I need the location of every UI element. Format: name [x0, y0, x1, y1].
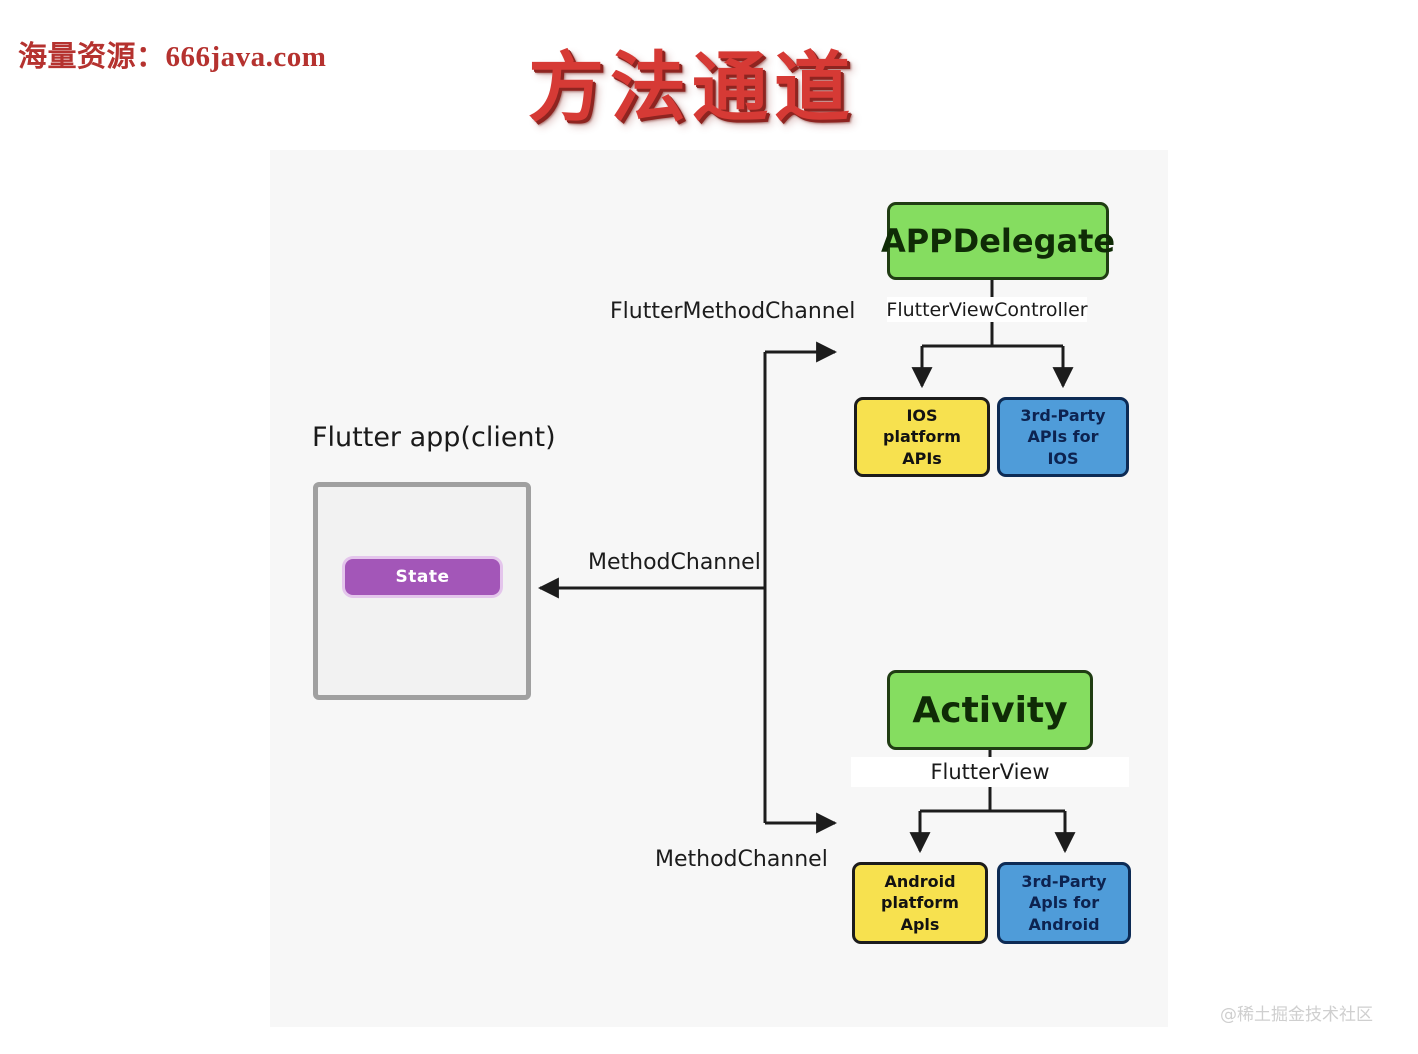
label-line: Android: [1028, 914, 1099, 935]
diagram-canvas: Flutter app(client) State APPDelegate Fl…: [270, 150, 1168, 1027]
ios-third-party-apis-node[interactable]: 3rd-PartyAPIs forIOS: [997, 397, 1129, 477]
label-line: Android: [884, 871, 955, 892]
flutterviewcontroller-label: FlutterViewController: [887, 297, 1087, 322]
activity-node[interactable]: Activity: [887, 670, 1093, 750]
label-line: Apls for: [1029, 892, 1099, 913]
flutter-method-channel-label: FlutterMethodChannel: [610, 299, 855, 324]
android-platform-apis-node[interactable]: AndroidplatformApls: [852, 862, 988, 944]
flutterview-label: FlutterView: [851, 757, 1129, 787]
state-label: State: [396, 567, 450, 587]
label-line: APIs for: [1028, 426, 1099, 447]
label-line: 3rd-Party: [1020, 405, 1105, 426]
label-line: Apls: [901, 914, 940, 935]
label-line: 3rd-Party: [1021, 871, 1106, 892]
label-line: platform: [881, 892, 959, 913]
bottom-right-watermark: @稀土掘金技术社区: [1220, 1000, 1373, 1025]
label-line: IOS: [906, 405, 937, 426]
label-line: platform: [883, 426, 961, 447]
flutter-client-label: Flutter app(client): [312, 422, 556, 453]
page-title: 方法通道: [528, 26, 856, 136]
ios-platform-apis-node[interactable]: IOSplatformAPIs: [854, 397, 990, 477]
ios-tree: [922, 280, 1063, 386]
state-node[interactable]: State: [345, 559, 500, 595]
label-line: APIs: [902, 448, 942, 469]
top-left-watermark: 海量资源：666java.com: [18, 33, 326, 75]
method-channel-to-android-label: MethodChannel: [655, 847, 828, 872]
android-third-party-apis-node[interactable]: 3rd-PartyApls forAndroid: [997, 862, 1131, 944]
appdelegate-node[interactable]: APPDelegate: [887, 202, 1109, 280]
label-line: IOS: [1047, 448, 1078, 469]
method-channel-to-client-label: MethodChannel: [588, 550, 761, 575]
